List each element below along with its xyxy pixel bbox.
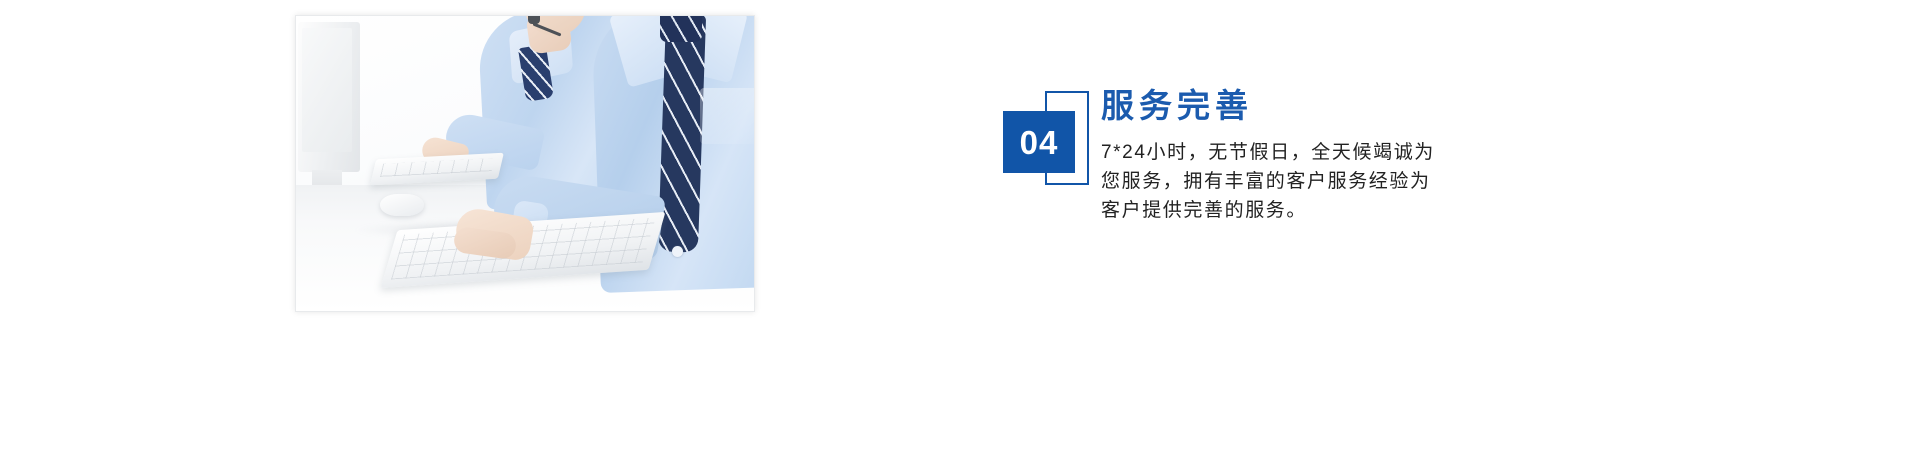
feature-banner: 04 服务完善 7*24小时，无节假日，全天候竭诚为 您服务，拥有丰富的客户服务… bbox=[0, 0, 1920, 452]
computer-mouse bbox=[380, 194, 424, 216]
description-line-3: 客户提供完善的服务。 bbox=[1101, 196, 1541, 225]
feature-description: 7*24小时，无节假日，全天候竭诚为 您服务，拥有丰富的客户服务经验为 客户提供… bbox=[1101, 138, 1541, 225]
keyboard-keys bbox=[380, 158, 495, 177]
badge-filled-square: 04 bbox=[1003, 111, 1075, 173]
agent-front-pocket bbox=[700, 88, 755, 144]
feature-heading: 服务完善 bbox=[1101, 85, 1541, 126]
agent-front-necktie bbox=[658, 15, 706, 253]
agent-front-necktie-knot bbox=[660, 15, 702, 42]
step-badge: 04 bbox=[1003, 85, 1093, 189]
agent-front-cuff-button bbox=[672, 246, 683, 257]
monitor-screen bbox=[302, 28, 352, 152]
description-line-1: 7*24小时，无节假日，全天候竭诚为 bbox=[1101, 138, 1541, 167]
feature-text-column: 服务完善 7*24小时，无节假日，全天候竭诚为 您服务，拥有丰富的客户服务经验为… bbox=[1101, 85, 1541, 225]
feature-photo bbox=[295, 15, 755, 312]
description-line-2: 您服务，拥有丰富的客户服务经验为 bbox=[1101, 167, 1541, 196]
badge-number: 04 bbox=[1020, 126, 1059, 159]
feature-content: 04 服务完善 7*24小时，无节假日，全天候竭诚为 您服务，拥有丰富的客户服务… bbox=[1003, 85, 1563, 275]
